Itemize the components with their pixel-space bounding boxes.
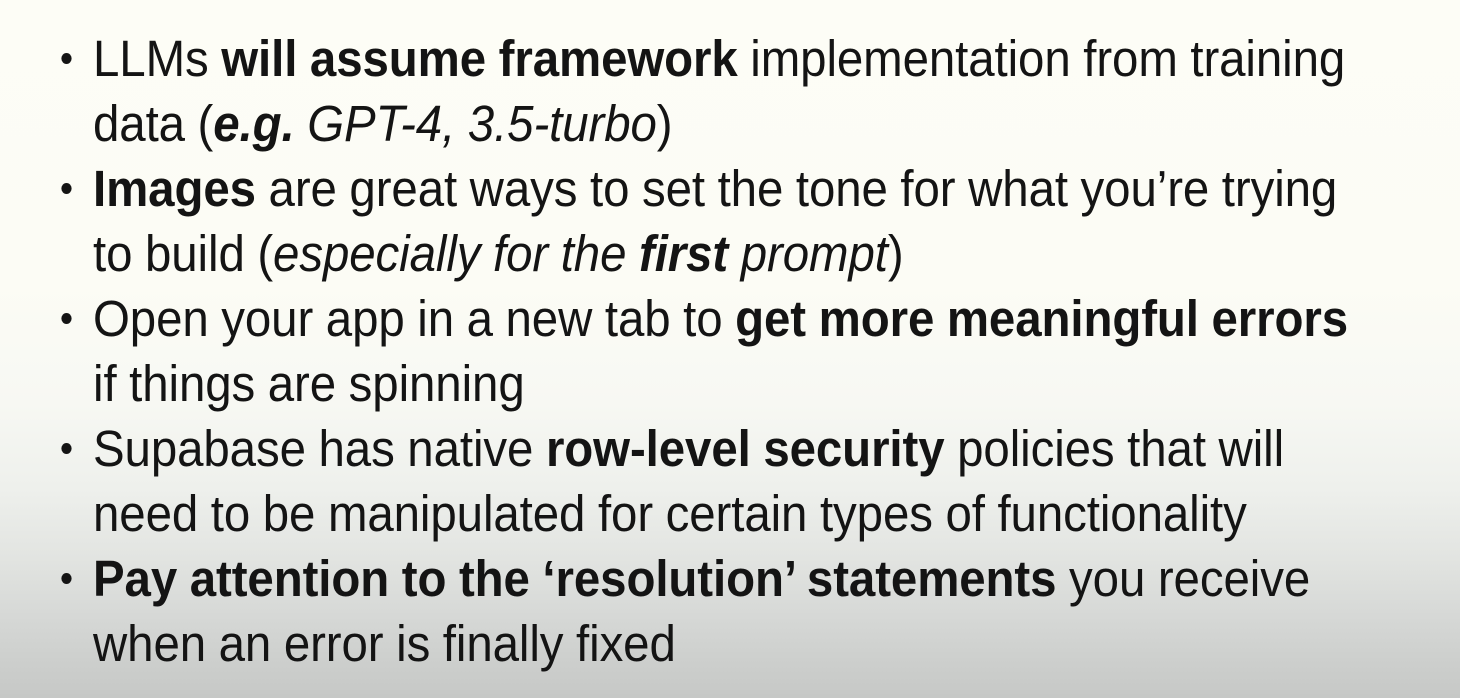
bullet-item: Open your app in a new tab to get more m… (0, 286, 1367, 416)
bullet-item: Pay attention to the ‘resolution’ statem… (0, 546, 1367, 676)
bullet-text: Pay attention to the ‘resolution’ statem… (93, 550, 1310, 672)
bullet-item: Images are great ways to set the tone fo… (0, 156, 1367, 286)
bullet-point-icon (61, 443, 71, 454)
bullet-text: Images are great ways to set the tone fo… (93, 160, 1337, 282)
bullet-point-icon (61, 573, 71, 584)
presentation-slide: LLMs will assume framework implementatio… (0, 0, 1460, 698)
bullet-point-icon (61, 53, 71, 64)
bullet-item: LLMs will assume framework implementatio… (0, 26, 1367, 156)
bullet-list: LLMs will assume framework implementatio… (0, 26, 1460, 676)
bullet-point-icon (61, 183, 71, 194)
bullet-text: LLMs will assume framework implementatio… (93, 30, 1345, 152)
bullet-text: Open your app in a new tab to get more m… (93, 290, 1348, 412)
bullet-point-icon (61, 313, 71, 324)
bullet-item: Supabase has native row-level security p… (0, 416, 1367, 546)
bullet-text: Supabase has native row-level security p… (93, 420, 1284, 542)
